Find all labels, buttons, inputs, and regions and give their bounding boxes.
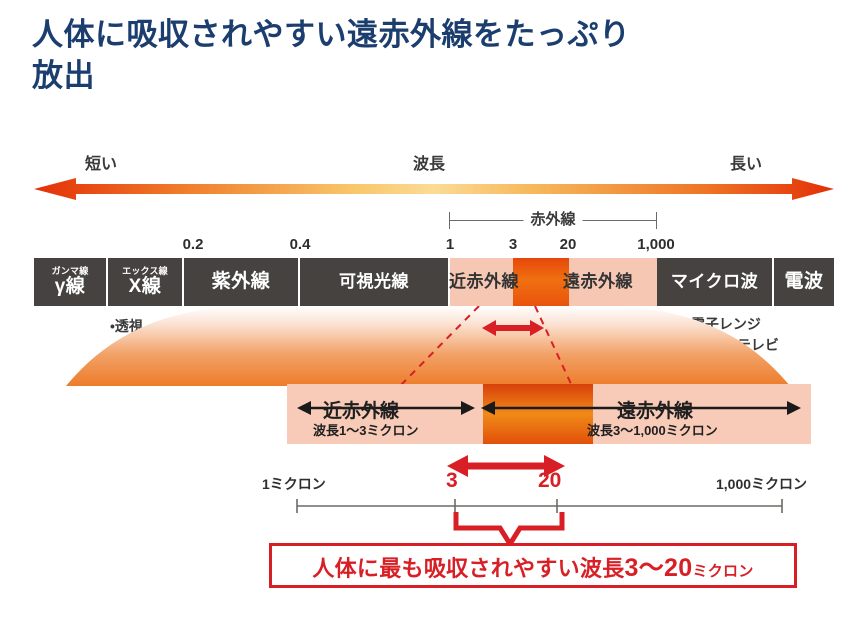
detail-near-ir-subtitle: 波長1〜3ミクロン bbox=[313, 420, 418, 439]
segment-ruby-xray: エックス線 bbox=[122, 266, 168, 276]
segment-label-gamma: γ線 bbox=[55, 276, 86, 298]
spectrum-segment-gamma: ガンマ線γ線 bbox=[34, 258, 108, 306]
callout-range: 3〜20 bbox=[625, 554, 693, 582]
infrared-spectrum-figure: 短い 波長 長い 赤外線 0.20.413201,000 ガンマ線γ線エックス線… bbox=[0, 132, 866, 640]
infrared-bracket-label: 赤外線 bbox=[523, 210, 582, 230]
detail-far-ir-subtitle: 波長3〜1,000ミクロン bbox=[587, 420, 718, 439]
spectrum-label-far-ir-label: 遠赤外線 bbox=[546, 258, 650, 306]
detail-near-ir-title: 近赤外線 bbox=[323, 396, 399, 423]
spectrum-label-near-ir-label: 近赤外線 bbox=[434, 258, 534, 306]
scale-number-20: 20 bbox=[560, 236, 577, 253]
segment-label-xray: X線 bbox=[129, 276, 162, 298]
spectrum-segment-microwave: マイクロ波 bbox=[657, 258, 774, 306]
segment-label-visible: 可視光線 bbox=[339, 271, 409, 293]
segment-label-text: 遠赤外線 bbox=[563, 271, 633, 293]
page-title: 人体に吸収されやすい遠赤外線をたっぷり 放出 bbox=[32, 14, 832, 96]
micron-left-label: 1ミクロン bbox=[262, 474, 326, 494]
segment-ruby-gamma: ガンマ線 bbox=[52, 266, 89, 276]
micron-mid-low: 3 bbox=[446, 469, 458, 493]
axis-label-short: 短い bbox=[85, 150, 117, 174]
spectrum-segment-uv: 紫外線 bbox=[184, 258, 300, 306]
callout-prefix: 人体に最も吸収されやすい波長 bbox=[312, 556, 624, 581]
segment-label-microwave: マイクロ波 bbox=[671, 271, 758, 293]
segment-label-uv: 紫外線 bbox=[212, 271, 271, 293]
bracket-tick-left bbox=[449, 212, 450, 229]
scale-number-3: 3 bbox=[509, 236, 517, 253]
spectrum-segment-visible: 可視光線 bbox=[300, 258, 450, 306]
segment-label-radio: 電波 bbox=[784, 271, 823, 293]
spectrum-segment-xray: エックス線X線 bbox=[108, 258, 184, 306]
bracket-tick-right bbox=[656, 212, 657, 229]
segment-label-text: 近赤外線 bbox=[449, 271, 519, 293]
electromagnetic-spectrum-bar: ガンマ線γ線エックス線X線紫外線可視光線マイクロ波電波近赤外線遠赤外線 bbox=[34, 258, 834, 306]
micron-mid-high: 20 bbox=[538, 469, 561, 493]
micron-right-label: 1,000ミクロン bbox=[716, 474, 807, 494]
zoom-funnel-shape bbox=[0, 306, 866, 386]
key-message-callout: 人体に最も吸収されやすい波長3〜20ミクロン bbox=[269, 543, 797, 588]
infrared-detail-band: 近赤外線 波長1〜3ミクロン 遠赤外線 波長3〜1,000ミクロン bbox=[287, 384, 811, 444]
scale-number-1000: 1,000 bbox=[637, 236, 675, 253]
callout-unit: ミクロン bbox=[692, 563, 753, 580]
callout-text: 人体に最も吸収されやすい波長3〜20ミクロン bbox=[312, 548, 753, 584]
wavelength-double-arrow-icon bbox=[34, 178, 834, 200]
detail-far-ir-title: 遠赤外線 bbox=[617, 396, 693, 423]
scale-number-1: 1 bbox=[446, 236, 454, 253]
spectrum-segment-radio: 電波 bbox=[774, 258, 834, 306]
axis-label-wavelength: 波長 bbox=[413, 150, 445, 174]
axis-label-long: 長い bbox=[730, 150, 762, 174]
scale-number-0.4: 0.4 bbox=[290, 236, 311, 253]
scale-number-0.2: 0.2 bbox=[183, 236, 204, 253]
infrared-range-bracket: 赤外線 bbox=[449, 210, 657, 232]
